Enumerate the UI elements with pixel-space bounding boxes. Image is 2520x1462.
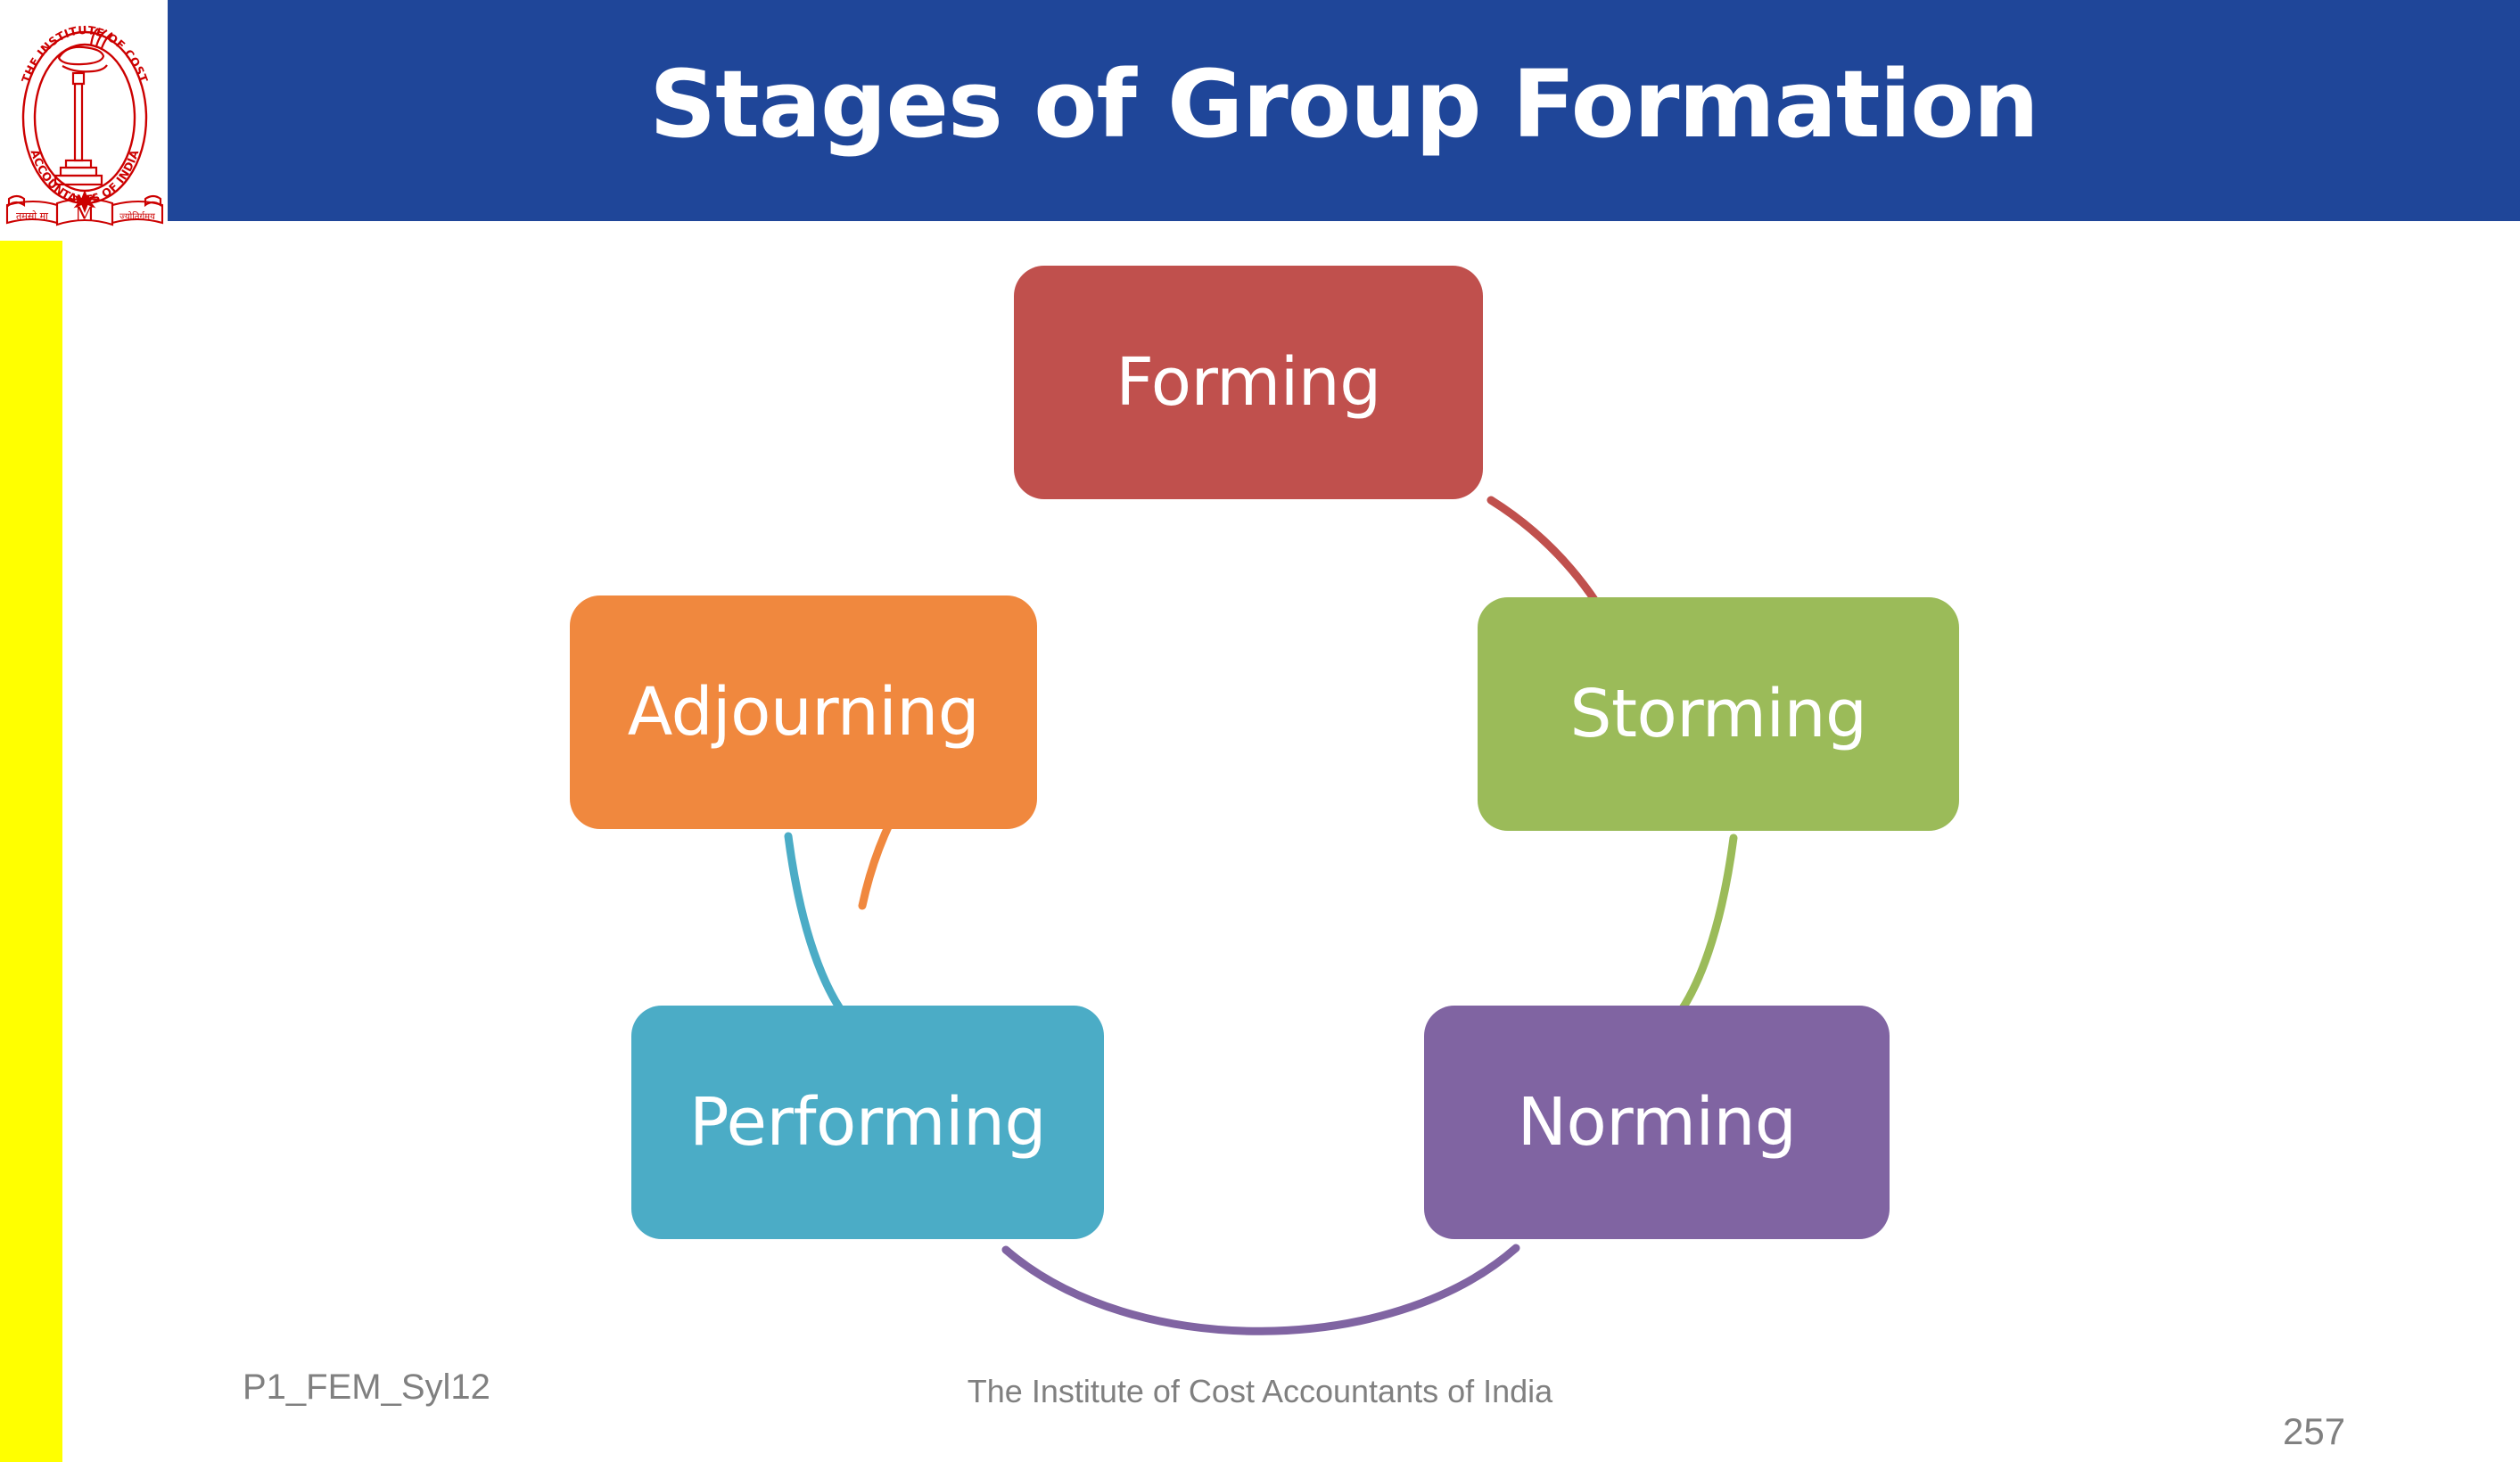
institute-logo: THE INSTITUTE OF COST ACCOUNTANTS OF IND… xyxy=(4,2,166,232)
stage-node-forming[interactable]: Forming xyxy=(1014,266,1483,499)
slide-footer: P1_FEM_Syl12 The Institute of Cost Accou… xyxy=(0,1335,2520,1462)
stage-label-storming: Storming xyxy=(1570,676,1867,752)
stage-node-performing[interactable]: Performing xyxy=(631,1006,1104,1239)
footer-institute-name: The Institute of Cost Accountants of Ind… xyxy=(0,1373,2520,1410)
stage-label-forming: Forming xyxy=(1116,344,1380,421)
stage-label-performing: Performing xyxy=(689,1084,1046,1161)
stage-node-storming[interactable]: Storming xyxy=(1478,597,1959,831)
connector-performing-to-adjourning xyxy=(788,836,853,1026)
connector-storming-to-norming xyxy=(1669,838,1734,1026)
group-formation-cycle-diagram: Forming Storming Norming Performing Adjo… xyxy=(0,221,2520,1335)
stage-label-adjourning: Adjourning xyxy=(628,674,979,751)
stage-node-adjourning[interactable]: Adjourning xyxy=(570,595,1037,829)
stage-node-norming[interactable]: Norming xyxy=(1424,1006,1890,1239)
connector-norming-to-performing xyxy=(1006,1248,1516,1331)
stage-label-norming: Norming xyxy=(1518,1084,1797,1161)
footer-page-number: 257 xyxy=(2283,1410,2345,1453)
slide-canvas: Stages of Group Formation THE INSTITUTE … xyxy=(0,0,2520,1462)
page-title: Stages of Group Formation xyxy=(168,0,2520,221)
